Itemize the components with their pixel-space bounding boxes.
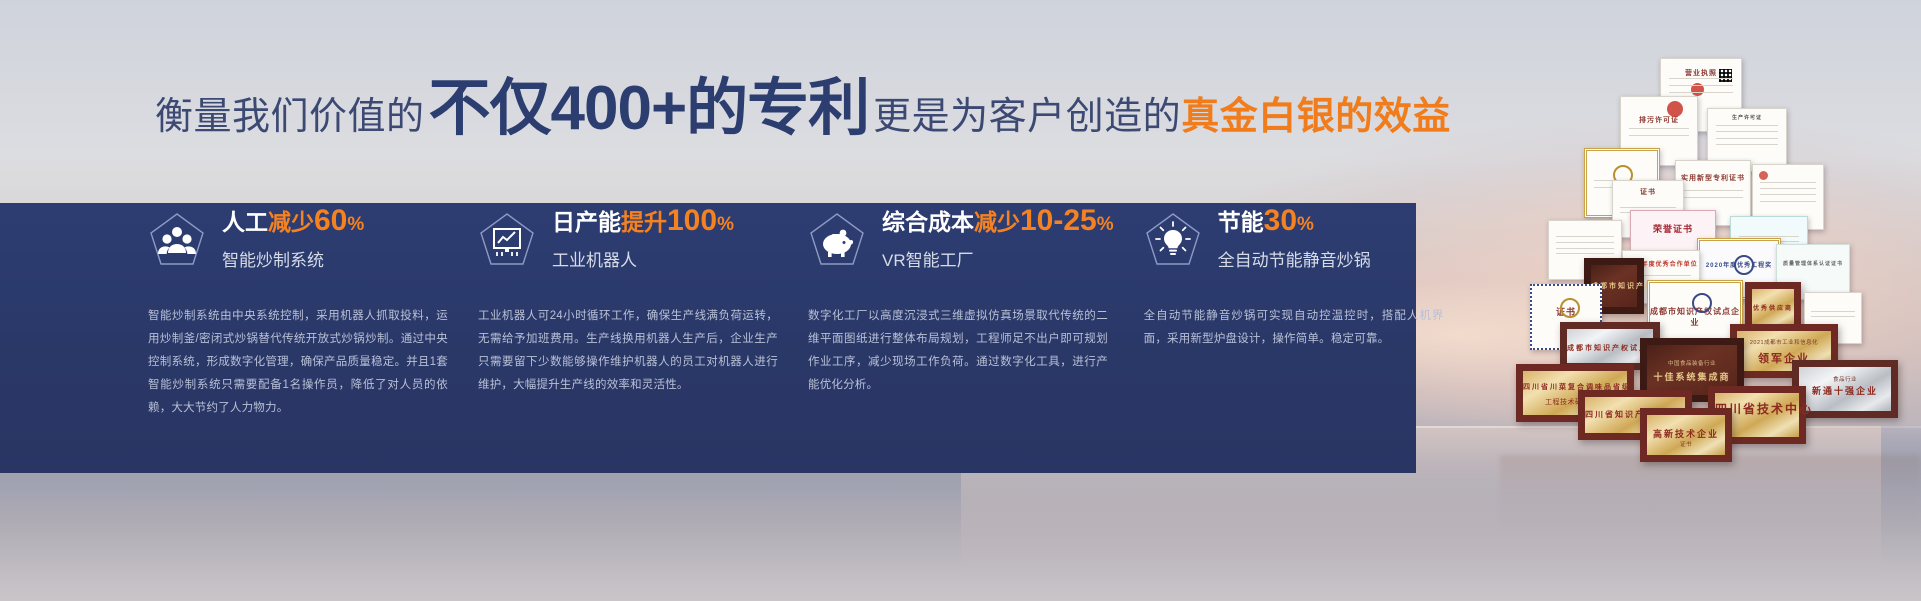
feature-title: 综合成本减少10-25% bbox=[882, 205, 1114, 237]
feature-title-label: 人工 bbox=[222, 209, 268, 235]
feature-subtitle: VR智能工厂 bbox=[882, 246, 1114, 271]
lightbulb-pentagon-icon bbox=[1144, 211, 1202, 269]
certificate-title: 质量管理体系认证证书 bbox=[1777, 260, 1849, 267]
feature-item-cost: 综合成本减少10-25% VR智能工厂 数字化工厂以高度沉浸式三维虚拟仿真场景取… bbox=[808, 203, 1114, 473]
feature-description: 工业机器人可24小时循环工作，确保生产线满负荷运转，无需给予加班费用。生产线换用… bbox=[478, 305, 778, 397]
feature-title-label: 节能 bbox=[1218, 209, 1264, 235]
feature-title-unit: % bbox=[717, 214, 734, 235]
feature-title-value: 10-25 bbox=[1020, 204, 1097, 237]
plaque-subtext: 2021成都市工业和信息化 bbox=[1737, 338, 1831, 346]
feature-title-unit: % bbox=[1297, 214, 1314, 235]
feature-title-value: 60 bbox=[314, 204, 347, 237]
feature-item-capacity: 日产能提升100% 工业机器人 工业机器人可24小时循环工作，确保生产线满负荷运… bbox=[478, 203, 778, 473]
certificate-wall: 营业执照 排污许可证 生产许可证 实用新型专利证书 证 bbox=[1492, 52, 1921, 462]
certificate-title: 生产许可证 bbox=[1708, 114, 1786, 121]
banner-stage: 衡量我们价值的 不仅400+的专利 更是为客户创造的 真金白银的效益 bbox=[0, 0, 1921, 601]
feature-title-value: 30 bbox=[1264, 204, 1297, 237]
plaque-text: 高新技术企业 bbox=[1647, 427, 1725, 440]
feature-title-label: 日产能 bbox=[552, 209, 621, 235]
feature-title: 人工减少60% bbox=[222, 205, 364, 237]
certificate-paper: 成都市知识产权试点企业 bbox=[1647, 280, 1743, 344]
plaque-text: 优秀供应商 bbox=[1752, 303, 1794, 312]
gold-seal-icon bbox=[1560, 298, 1580, 318]
headline-middle: 更是为客户创造的 bbox=[873, 85, 1181, 140]
certificate-title: 证书 bbox=[1613, 187, 1683, 197]
plaque-subtext: 证书 bbox=[1647, 440, 1725, 448]
award-plaque: 高新技术企业 证书 bbox=[1640, 408, 1732, 462]
feature-subtitle: 工业机器人 bbox=[552, 246, 734, 271]
headline-highlight: 真金白银的效益 bbox=[1181, 85, 1451, 140]
headline-lead: 衡量我们价值的 bbox=[155, 85, 425, 140]
people-pentagon-icon bbox=[148, 211, 206, 269]
seal-icon bbox=[1692, 293, 1712, 313]
feature-item-energy: 节能30% 全自动节能静音炒锅 全自动节能静音炒锅可实现自动控温控时，搭配人机界… bbox=[1144, 203, 1444, 473]
feature-title-verb: 减少 bbox=[974, 209, 1020, 235]
feature-title-verb: 减少 bbox=[268, 209, 314, 235]
piggy-bank-pentagon-icon bbox=[808, 211, 866, 269]
feature-title-value: 100 bbox=[667, 204, 717, 237]
certificate-title: 荣誉证书 bbox=[1631, 222, 1715, 235]
plaque-subtext: 中国食品装备行业 bbox=[1647, 359, 1737, 367]
plaque-subtext: 食品行业 bbox=[1799, 375, 1891, 383]
feature-subtitle: 智能炒制系统 bbox=[222, 246, 364, 271]
feature-item-labor: 人工减少60% 智能炒制系统 智能炒制系统由中央系统控制，采用机器人抓取投料，运… bbox=[148, 203, 448, 473]
feature-title-label: 综合成本 bbox=[882, 209, 974, 235]
certificate-title: 排污许可证 bbox=[1621, 115, 1697, 125]
red-seal-icon bbox=[1759, 171, 1768, 180]
feature-title-unit: % bbox=[347, 214, 364, 235]
feature-panel: 人工减少60% 智能炒制系统 智能炒制系统由中央系统控制，采用机器人抓取投料，运… bbox=[0, 203, 1416, 473]
red-seal-icon bbox=[1667, 101, 1683, 117]
headline-emphasis: 不仅400+的专利 bbox=[429, 78, 870, 140]
seal-icon bbox=[1734, 255, 1754, 275]
qr-code-icon bbox=[1719, 69, 1732, 82]
feature-title-verb: 提升 bbox=[621, 209, 667, 235]
feature-description: 全自动节能静音炒锅可实现自动控温控时，搭配人机界面，采用新型炉盘设计，操作简单。… bbox=[1144, 305, 1444, 351]
feature-title-unit: % bbox=[1097, 214, 1114, 235]
page-title: 衡量我们价值的 不仅400+的专利 更是为客户创造的 真金白银的效益 bbox=[155, 78, 1451, 140]
certificate-title: 实用新型专利证书 bbox=[1676, 173, 1750, 183]
plaque-text: 十佳系统集成商 bbox=[1647, 370, 1737, 383]
feature-title: 节能30% bbox=[1218, 205, 1371, 237]
certificate-reflection bbox=[1500, 455, 1920, 535]
feature-description: 智能炒制系统由中央系统控制，采用机器人抓取投料，运用炒制釜/密闭式炒锅替代传统开… bbox=[148, 305, 448, 420]
feature-subtitle: 全自动节能静音炒锅 bbox=[1218, 246, 1371, 271]
feature-description: 数字化工厂以高度沉浸式三维虚拟仿真场景取代传统的二维平面图纸进行整体布局规划，工… bbox=[808, 305, 1108, 397]
feature-title: 日产能提升100% bbox=[552, 205, 734, 237]
plaque-text: 新通十强企业 bbox=[1799, 384, 1891, 397]
chart-board-pentagon-icon bbox=[478, 211, 536, 269]
